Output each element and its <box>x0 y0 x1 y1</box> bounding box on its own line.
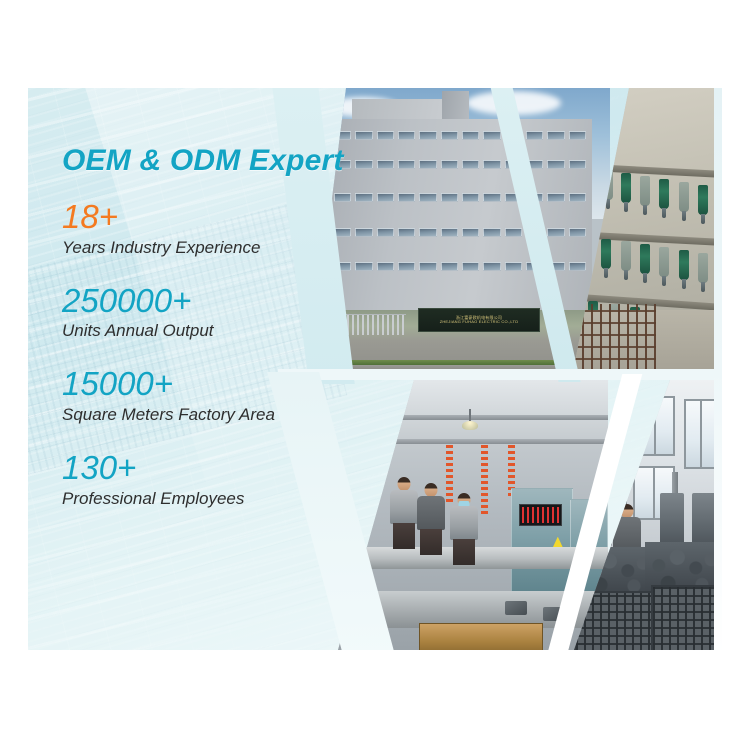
stat-value-employees: 130+ <box>62 451 362 486</box>
hall-window <box>636 396 674 455</box>
page-title: OEM & ODM Expert <box>62 144 362 178</box>
pendant-lamp <box>462 421 478 430</box>
stat-label-area: Square Meters Factory Area <box>62 405 362 425</box>
company-signboard: 浙江富豪欧机电有限公司 ZHEJIANG FUHAO ELECTRIC CO.,… <box>418 308 540 333</box>
chain-hoist <box>601 239 611 269</box>
pendant-lamp <box>381 426 397 435</box>
air-hose-coil <box>481 445 488 517</box>
stat-value-years: 18+ <box>62 200 362 235</box>
chain-hoist <box>698 253 708 283</box>
wooden-crate <box>419 623 543 650</box>
banner-stage: 浙江富豪欧机电有限公司 ZHEJIANG FUHAO ELECTRIC CO.,… <box>0 0 750 750</box>
stat-value-output: 250000+ <box>62 284 362 319</box>
stat-label-employees: Professional Employees <box>62 489 362 509</box>
chain-hoist <box>679 250 689 280</box>
ceiling-beam <box>338 439 608 444</box>
stats-copy-column: OEM & ODM Expert 18+ Years Industry Expe… <box>62 144 362 515</box>
chain-hoist <box>698 185 708 215</box>
stat-label-years: Years Industry Experience <box>62 238 362 258</box>
chain-hoist <box>640 176 650 206</box>
banner-panel: 浙江富豪欧机电有限公司 ZHEJIANG FUHAO ELECTRIC CO.,… <box>28 88 722 650</box>
chain-hoist <box>640 244 650 274</box>
chain-hoist <box>621 173 631 203</box>
cloud <box>466 91 561 115</box>
stat-block-years: 18+ Years Industry Experience <box>62 200 362 258</box>
ceiling <box>338 380 608 445</box>
chain-hoist <box>659 179 669 209</box>
worker <box>414 483 448 557</box>
stat-label-output: Units Annual Output <box>62 321 362 341</box>
assembly-line-scene <box>338 380 608 650</box>
machined-part <box>543 607 567 621</box>
ceiling-beam <box>338 415 608 420</box>
chain-hoist <box>679 182 689 212</box>
hall-window <box>684 399 720 469</box>
chain-hoist <box>659 247 669 277</box>
photo-production-assembly-line[interactable] <box>338 380 608 650</box>
stat-block-employees: 130+ Professional Employees <box>62 451 362 509</box>
chain-hoist <box>621 241 631 271</box>
metal-gate <box>573 304 656 372</box>
digital-readout <box>519 504 562 526</box>
stat-value-area: 15000+ <box>62 367 362 402</box>
worker-foreground <box>446 493 482 573</box>
signboard-english-text: ZHEJIANG FUHAO ELECTRIC CO.,LTD <box>440 320 519 324</box>
stat-block-area: 15000+ Square Meters Factory Area <box>62 367 362 425</box>
machined-part <box>505 601 527 615</box>
wire-mesh-bin <box>651 585 722 650</box>
stat-block-output: 250000+ Units Annual Output <box>62 284 362 342</box>
window-grid <box>334 128 586 310</box>
